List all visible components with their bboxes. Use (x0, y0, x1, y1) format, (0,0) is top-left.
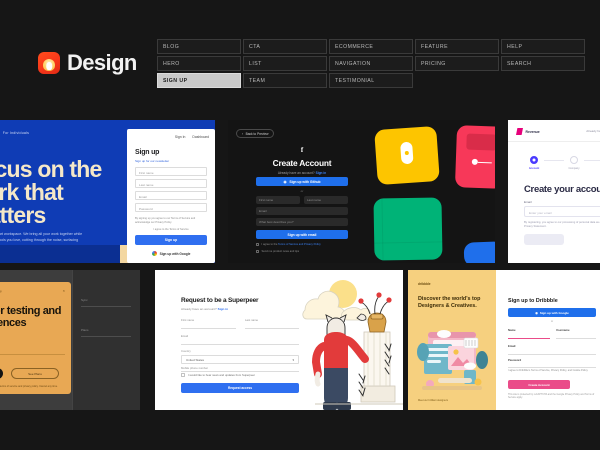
create-account-or: or (256, 189, 348, 193)
country-label: Country (181, 349, 191, 353)
google-icon (152, 251, 157, 256)
brand-name: Design (67, 50, 137, 76)
nav-label: HELP (507, 44, 522, 50)
step-connector (544, 160, 564, 161)
email-label: Email (181, 334, 188, 338)
shot-card-superpeer[interactable]: Request to be a Superpeer Already have a… (155, 270, 403, 410)
sub-prefix: Already have an account? (181, 307, 217, 311)
terms-pre: I agree to the (262, 243, 278, 246)
country-value: United States (186, 358, 204, 362)
last-name-field[interactable]: Last name (135, 179, 207, 188)
revenue-logo[interactable]: Revenue (516, 128, 540, 135)
decor-shape-green (373, 197, 442, 260)
modal-divider (0, 354, 65, 355)
orange-modal: Home / Join / Your Testing × Join for te… (0, 282, 71, 394)
name-label: Name (508, 328, 516, 332)
field-label: Last name (139, 183, 153, 187)
revenue-brand-label: Revenue (526, 130, 540, 134)
focus-topbar-item[interactable]: For Individuals (3, 131, 29, 135)
checkbox-icon[interactable] (256, 243, 259, 246)
nav-label: PRICING (421, 61, 446, 67)
signup-stepper: Account Company Team (524, 156, 600, 170)
nav-item-pricing[interactable]: PRICING (415, 56, 499, 71)
flame-logo-icon (38, 52, 60, 74)
terms-link[interactable]: Terms of Service and Privacy Policy (278, 243, 321, 246)
dribbble-promo-headline: Discover the world's top Designers & Cre… (418, 296, 488, 310)
dribbble-title: Sign up to Dribbble (508, 298, 558, 304)
nav-label: ECOMMERCE (335, 44, 373, 50)
shot-card-create-account[interactable]: ‹ Back to Preview f Create Account Alrea… (228, 120, 495, 263)
nav-cell-empty (501, 73, 585, 88)
continue-button[interactable] (524, 234, 564, 245)
app-canvas: Design BLOG CTA ECOMMERCE FEATURE HELP H… (0, 0, 600, 450)
dribbble-or: or (508, 320, 596, 323)
nav-item-sign-up[interactable]: SIGN UP (157, 73, 241, 88)
superpeer-illustration (285, 270, 403, 410)
back-label: Back to Preview (246, 132, 269, 136)
focus-panel-note[interactable]: Sign up for our newsletter (135, 159, 169, 163)
focus-legal-text: By signing up you agree to our Terms of … (135, 217, 207, 224)
nav-label: NAVIGATION (335, 61, 371, 67)
password-label: Password (508, 358, 521, 362)
nav-label: LIST (249, 61, 262, 67)
newsletter-checkbox-row[interactable]: Send me product news and tips (256, 250, 352, 254)
nav-label: CTA (249, 44, 260, 50)
github-icon: ◉ (283, 180, 286, 184)
shots-row-top: For Teams For Individuals Focus on the w… (0, 120, 600, 263)
decor-shape-yellow (374, 126, 440, 185)
nav-label: FEATURE (421, 44, 448, 50)
chevron-left-icon: ‹ (242, 132, 243, 136)
sign-in-link[interactable]: Sign in (218, 307, 228, 311)
nav-item-ecommerce[interactable]: ECOMMERCE (329, 39, 413, 54)
create-account-header: f Create Account Already have an account… (256, 146, 348, 175)
sub-prefix: Already have an account? (278, 171, 315, 175)
focus-topbar: For Teams For Individuals (0, 131, 29, 135)
first-name-label: First name (181, 318, 194, 322)
field-label: First name (139, 171, 154, 175)
dribbble-promo-panel: dribbble Discover the world's top Design… (408, 270, 496, 410)
nav-item-cta[interactable]: CTA (243, 39, 327, 54)
step-bubble-icon (530, 156, 538, 164)
shot-card-focus[interactable]: For Teams For Individuals Focus on the w… (0, 120, 215, 263)
nav-label: TEAM (249, 78, 265, 84)
google-icon: ◉ (535, 311, 538, 315)
nav-item-testimonial[interactable]: TESTIMONIAL (329, 73, 413, 88)
nav-label: TESTIMONIAL (335, 78, 375, 84)
orange-side-panel: Sync Plans (72, 270, 140, 410)
focus-consent-text: I agree to the Terms of Service (135, 228, 207, 232)
close-icon[interactable]: × (63, 288, 65, 293)
google-button-label: Sign up with Google (160, 252, 191, 256)
country-select[interactable]: United States ▾ (181, 355, 299, 364)
terms-checkbox-row[interactable]: I agree to the Terms of Service and Priv… (256, 243, 352, 247)
dribbble-illustration (414, 322, 492, 396)
sign-in-link[interactable]: Sign In (175, 135, 186, 139)
modal-headline: Join for testing and experiences (0, 305, 71, 329)
focus-signup-panel: Sign In Dashboard Sign up Sign up for ou… (127, 129, 215, 263)
describes-you-field[interactable]: What best describes you? (256, 218, 348, 226)
shots-row-bottom: Sync Plans Home / Join / Your Testing × … (0, 270, 600, 410)
nav-item-team[interactable]: TEAM (243, 73, 327, 88)
focus-headline: Focus on the work that matters (0, 158, 118, 227)
username-label: Username (556, 328, 570, 332)
step-connector (584, 160, 600, 161)
nav-item-navigation[interactable]: NAVIGATION (329, 56, 413, 71)
dribbble-terms-hint: I agree to Dribbble's Terms of Service, … (508, 369, 596, 373)
shot-card-dribbble[interactable]: dribbble Discover the world's top Design… (408, 270, 600, 410)
nav-item-hero[interactable]: HERO (157, 56, 241, 71)
nav-label: HERO (163, 61, 180, 67)
f-logo-icon: f (256, 146, 348, 154)
create-your-account-title: Create your account (524, 184, 600, 195)
dribbble-footer-text: This site is protected by reCAPTCHA and … (508, 393, 596, 400)
email-field[interactable]: Email (256, 207, 348, 215)
last-name-field[interactable]: Last name (304, 196, 348, 204)
shot-card-create-your-account[interactable]: Revenue Already have an account? Log in … (508, 120, 600, 263)
privacy-hint: By registering, you agree to our process… (524, 221, 600, 229)
sign-in-link[interactable]: Sign in (316, 171, 327, 175)
nav-cell-empty (415, 73, 499, 88)
step-bubble-icon (570, 156, 578, 164)
checkbox-icon[interactable] (256, 250, 259, 253)
modal-primary-button[interactable] (0, 368, 3, 379)
email-label: Email (524, 200, 532, 204)
side-label: Sync (81, 298, 88, 302)
login-link[interactable]: Already have an account? Log in (586, 129, 600, 133)
signup-email-button[interactable]: Sign up with email (256, 230, 348, 239)
create-account-button[interactable]: Create Account (508, 380, 570, 389)
dribbble-brand-label: dribbble (418, 282, 431, 286)
category-nav-grid: BLOG CTA ECOMMERCE FEATURE HELP HERO LIS… (157, 39, 585, 88)
modal-legal-text: By continuing you accept our terms of se… (0, 385, 67, 389)
first-name-field[interactable]: First name (256, 196, 300, 204)
revenue-mark-icon (516, 128, 523, 135)
request-access-button[interactable]: Request access (181, 383, 299, 393)
superpeer-subtitle: Already have an account? Sign in (181, 307, 228, 311)
nav-item-list[interactable]: LIST (243, 56, 327, 71)
nav-label: SEARCH (507, 61, 531, 67)
dribbble-promo-footer: Meet our brilliant designers (418, 399, 448, 402)
github-signup-button[interactable]: ◉ Sign up with Github (256, 177, 348, 186)
newsletter-consent[interactable]: I would like to hear news and updates fr… (181, 373, 255, 377)
step-label: Account (524, 167, 544, 170)
google-button-label: Sign up with Google (540, 311, 569, 315)
superpeer-title: Request to be a Superpeer (181, 297, 258, 304)
last-name-label: Last name (245, 318, 258, 322)
decor-shape-pink (455, 125, 495, 189)
nav-item-help[interactable]: HELP (501, 39, 585, 54)
email-input[interactable]: Enter your email (524, 206, 600, 217)
decor-shape-blue (464, 241, 495, 263)
checkbox-icon[interactable] (181, 373, 185, 377)
first-name-field[interactable]: First name (135, 167, 207, 176)
create-account-title: Create Account (256, 158, 348, 168)
nav-item-feature[interactable]: FEATURE (415, 39, 499, 54)
focus-panel-links: Sign In Dashboard (175, 135, 209, 139)
email-field[interactable]: Email (135, 191, 207, 200)
nav-item-blog[interactable]: BLOG (157, 39, 241, 54)
step-account[interactable]: Account (524, 156, 544, 170)
focus-panel-title: Sign up (135, 149, 159, 156)
focus-google-button[interactable]: Sign up with Google (135, 249, 207, 258)
nav-label: SIGN UP (163, 78, 187, 84)
focus-signup-button[interactable]: Sign up (135, 235, 207, 245)
newsletter-label: Send me product news and tips (262, 250, 300, 254)
field-label: Email (139, 195, 147, 199)
email-placeholder: Enter your email (529, 211, 552, 215)
password-field[interactable]: Password (135, 203, 207, 212)
modal-secondary-button[interactable]: See Plans (11, 368, 59, 379)
shot-card-orange-modal[interactable]: Sync Plans Home / Join / Your Testing × … (0, 270, 140, 410)
github-button-label: Sign up with Github (289, 180, 320, 184)
nav-item-search[interactable]: SEARCH (501, 56, 585, 71)
nav-label: BLOG (163, 44, 179, 50)
email-label: Email (508, 344, 515, 348)
consent-label: I would like to hear news and updates fr… (188, 373, 255, 377)
side-label: Plans (81, 328, 89, 332)
dashboard-link[interactable]: Dashboard (192, 135, 209, 139)
field-label: Password (139, 207, 153, 211)
back-to-preview-button[interactable]: ‹ Back to Preview (236, 129, 274, 138)
create-account-subtitle: Already have an account? Sign in (256, 171, 348, 175)
google-signup-button[interactable]: ◉ Sign up with Google (508, 308, 596, 317)
modal-breadcrumb: Home / Join / Your Testing (0, 289, 1, 293)
step-company[interactable]: Company (564, 156, 584, 170)
phone-label: Mobile phone number (181, 366, 208, 370)
step-label: Company (564, 167, 584, 170)
brand-logo[interactable]: Design (38, 50, 137, 76)
page-header: Design BLOG CTA ECOMMERCE FEATURE HELP H… (0, 0, 600, 110)
